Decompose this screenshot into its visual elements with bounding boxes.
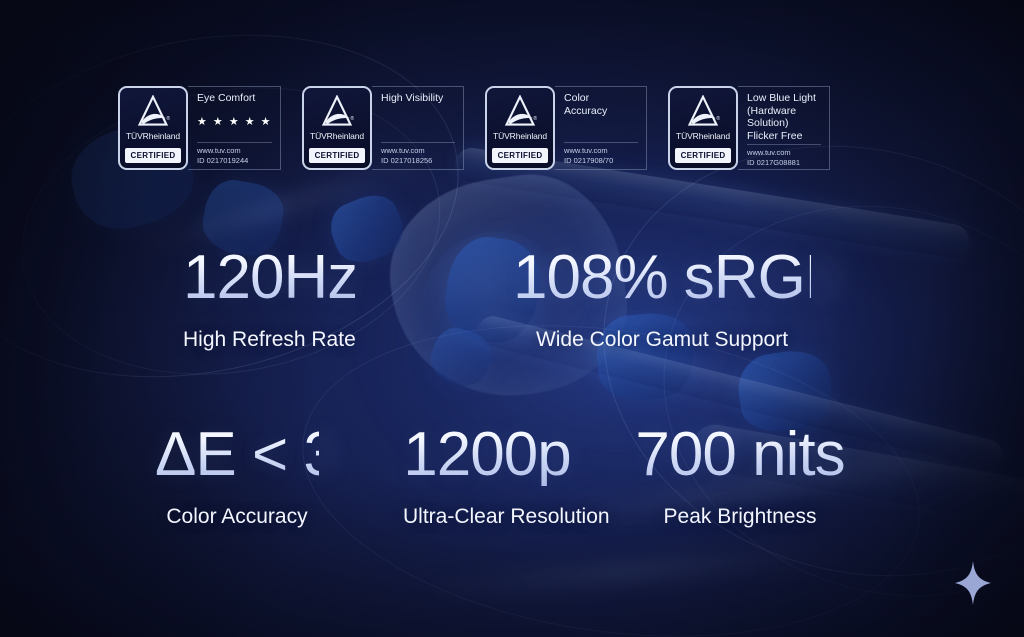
spec-label: Ultra-Clear Resolution [403, 506, 571, 527]
spec-value: 120Hz [183, 247, 355, 309]
spec-resolution: 1200p Ultra-Clear Resolution [403, 424, 571, 527]
spec-label: Peak Brightness [635, 506, 845, 527]
spec-peak-brightness: 700 nits Peak Brightness [635, 424, 845, 527]
spec-value: 108% sRGB [513, 247, 811, 309]
four-point-sparkle-icon [954, 561, 992, 605]
spec-color-gamut: 108% sRGB Wide Color Gamut Support [513, 247, 811, 350]
spec-color-accuracy: ΔE < 3 Color Accuracy [155, 424, 319, 527]
spec-label: Color Accuracy [155, 506, 319, 527]
spec-label: High Refresh Rate [183, 329, 355, 350]
spec-value: 1200p [403, 424, 571, 486]
spec-value: ΔE < 3 [155, 424, 319, 486]
spec-refresh-rate: 120Hz High Refresh Rate [183, 247, 355, 350]
spec-value: 700 nits [635, 424, 845, 486]
promo-slide: ® TÜVRheinland CERTIFIED Eye Comfort ★ ★… [0, 0, 1024, 637]
spec-highlights: 120Hz High Refresh Rate 108% sRGB Wide C… [0, 0, 1024, 637]
spec-label: Wide Color Gamut Support [513, 329, 811, 350]
